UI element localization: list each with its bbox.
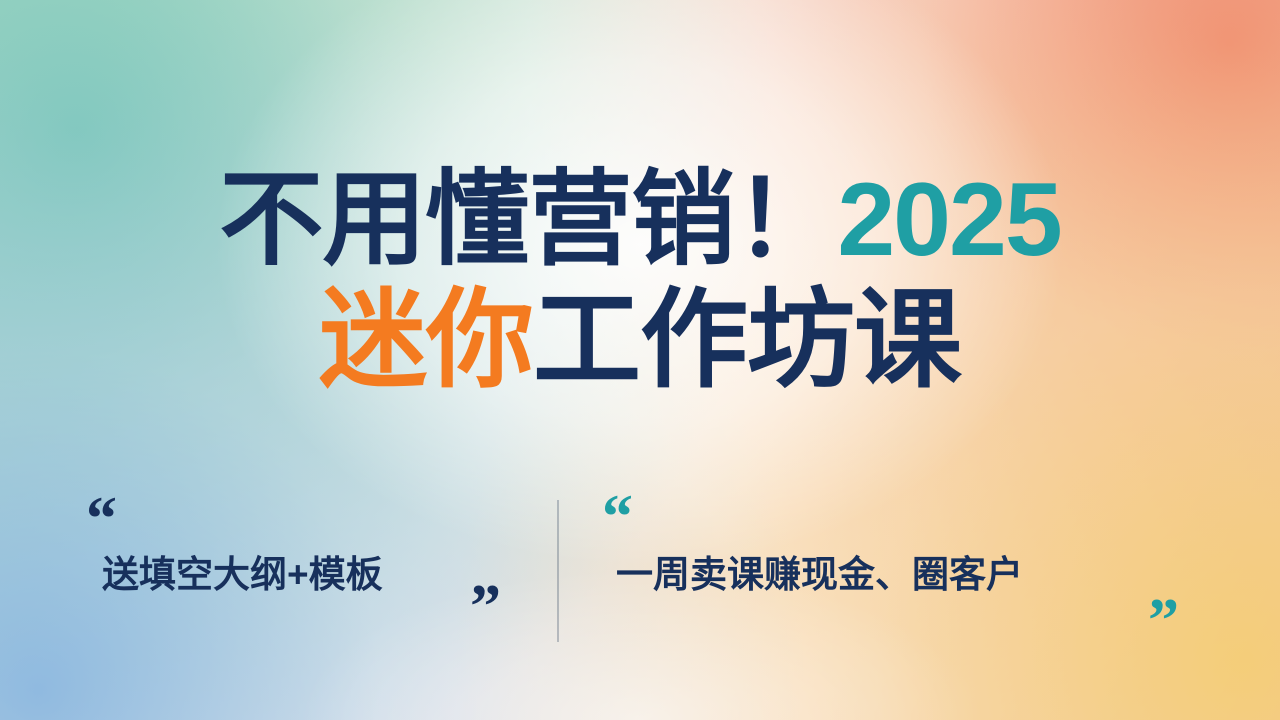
quote-close-icon: ”	[470, 586, 501, 629]
headline-line-2-accent: 迷你	[319, 279, 533, 400]
headline-year: 2025	[837, 162, 1060, 278]
poster-content: 不用懂营销！2025 迷你工作坊课 “ 送填空大纲+模板 ” “ 一周卖课赚现金…	[0, 0, 1280, 720]
quote-close-icon: ”	[1148, 600, 1179, 643]
taglines-block: “ 送填空大纲+模板 ” “ 一周卖课赚现金、圈客户 ”	[0, 490, 1280, 660]
quote-open-icon: “	[602, 496, 633, 539]
headline-block: 不用懂营销！2025 迷你工作坊课	[0, 168, 1280, 394]
headline-line-1: 不用懂营销！2025	[0, 168, 1280, 272]
tagline-left-text: 送填空大纲+模板	[102, 544, 383, 598]
poster-canvas: 不用懂营销！2025 迷你工作坊课 “ 送填空大纲+模板 ” “ 一周卖课赚现金…	[0, 0, 1280, 720]
headline-line-2-main: 工作坊课	[533, 279, 961, 400]
tagline-right-text: 一周卖课赚现金、圈客户	[616, 544, 1023, 598]
headline-line-2: 迷你工作坊课	[0, 286, 1280, 394]
quote-open-icon: “	[86, 498, 117, 541]
headline-line-1-main: 不用懂营销！	[219, 162, 837, 278]
